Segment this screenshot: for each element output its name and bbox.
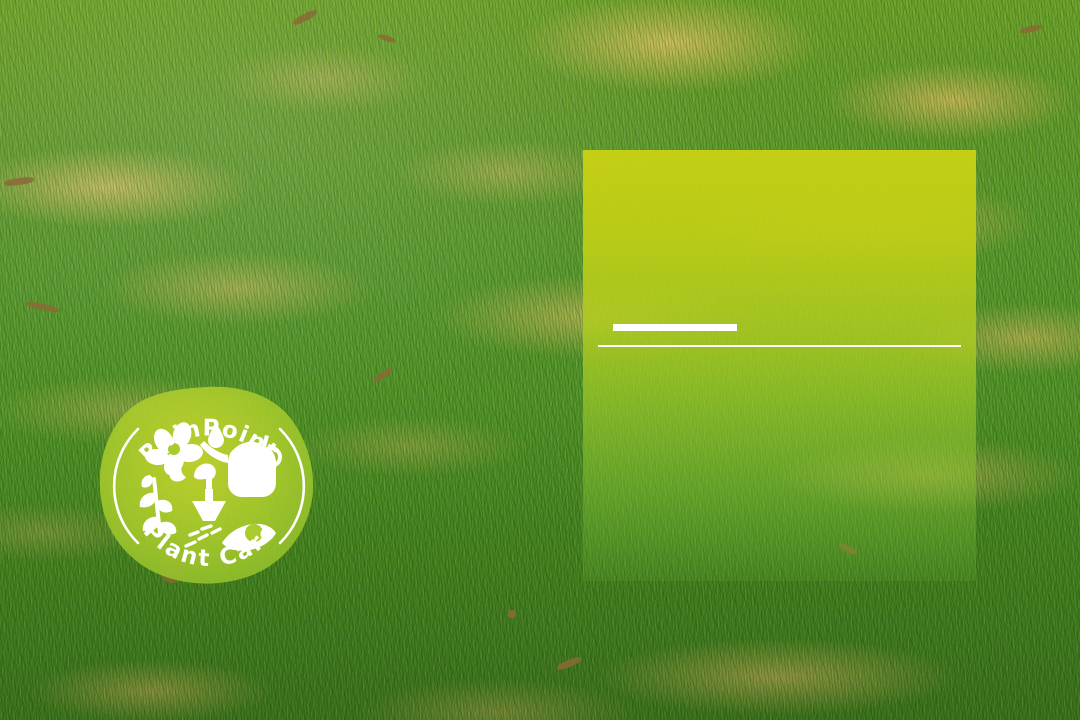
rainpoint-plant-care-logo[interactable]: RainPoint Plant Care [94,383,322,588]
content-divider-thin [598,345,961,347]
hero-banner: RainPoint Plant Care [0,0,1080,720]
leaf-debris [508,610,516,618]
article-text-panel [583,150,976,581]
page-subtitle [598,178,958,332]
title-block [598,178,958,332]
